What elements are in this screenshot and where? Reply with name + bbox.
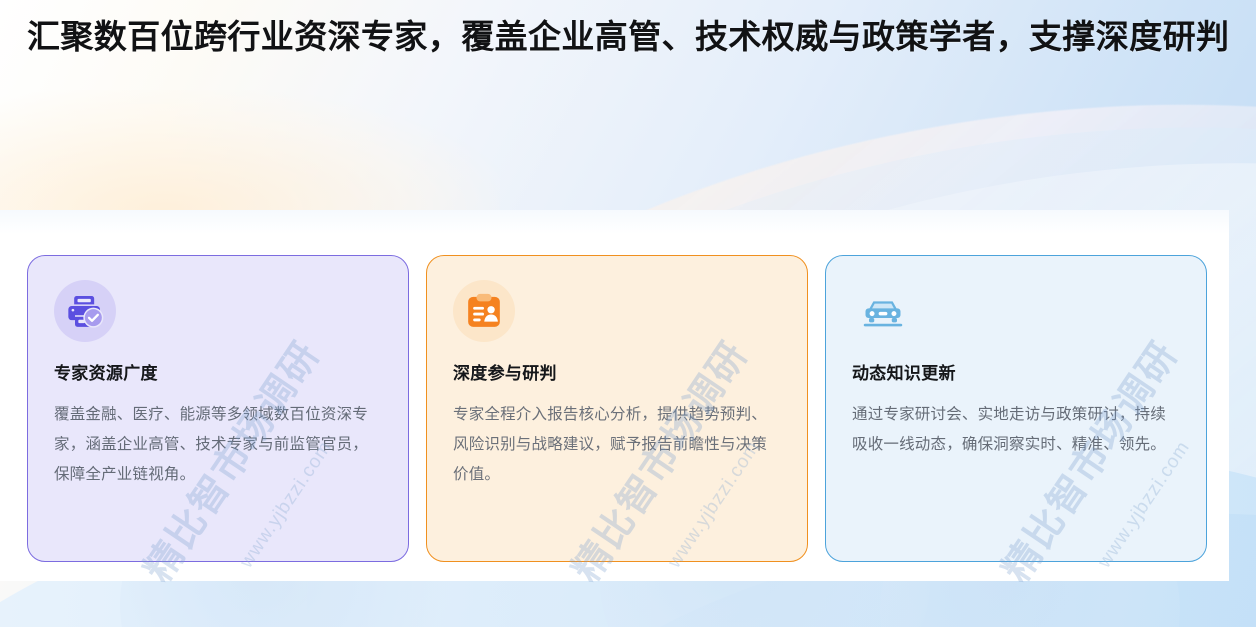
- feature-card-dynamic-knowledge[interactable]: 动态知识更新 通过专家研讨会、实地走访与政策研讨，持续吸收一线动态，确保洞察实时…: [825, 255, 1207, 562]
- content-panel-top-fade: [0, 210, 1229, 234]
- feature-card-expert-breadth[interactable]: 专家资源广度 覆盖金融、医疗、能源等多领域数百位资深专家，涵盖企业高管、技术专家…: [27, 255, 409, 562]
- feature-card-row: 专家资源广度 覆盖金融、医疗、能源等多领域数百位资深专家，涵盖企业高管、技术专家…: [27, 255, 1207, 562]
- printer-check-icon: [54, 280, 116, 342]
- card-title: 专家资源广度: [54, 362, 382, 386]
- slide-canvas: 汇聚数百位跨行业资深专家，覆盖企业高管、技术权威与政策学者，支撑深度研判: [0, 0, 1256, 627]
- card-description: 专家全程介入报告核心分析，提供趋势预判、风险识别与战略建议，赋予报告前瞻性与决策…: [453, 400, 781, 490]
- car-icon: [852, 280, 914, 342]
- card-title: 动态知识更新: [852, 362, 1180, 386]
- card-description: 通过专家研讨会、实地走访与政策研讨，持续吸收一线动态，确保洞察实时、精准、领先。: [852, 400, 1180, 460]
- page-title: 汇聚数百位跨行业资深专家，覆盖企业高管、技术权威与政策学者，支撑深度研判: [27, 14, 1237, 60]
- card-title: 深度参与研判: [453, 362, 781, 386]
- card-description: 覆盖金融、医疗、能源等多领域数百位资深专家，涵盖企业高管、技术专家与前监管官员，…: [54, 400, 382, 490]
- feature-card-deep-participation[interactable]: 深度参与研判 专家全程介入报告核心分析，提供趋势预判、风险识别与战略建议，赋予报…: [426, 255, 808, 562]
- clipboard-person-icon: [453, 280, 515, 342]
